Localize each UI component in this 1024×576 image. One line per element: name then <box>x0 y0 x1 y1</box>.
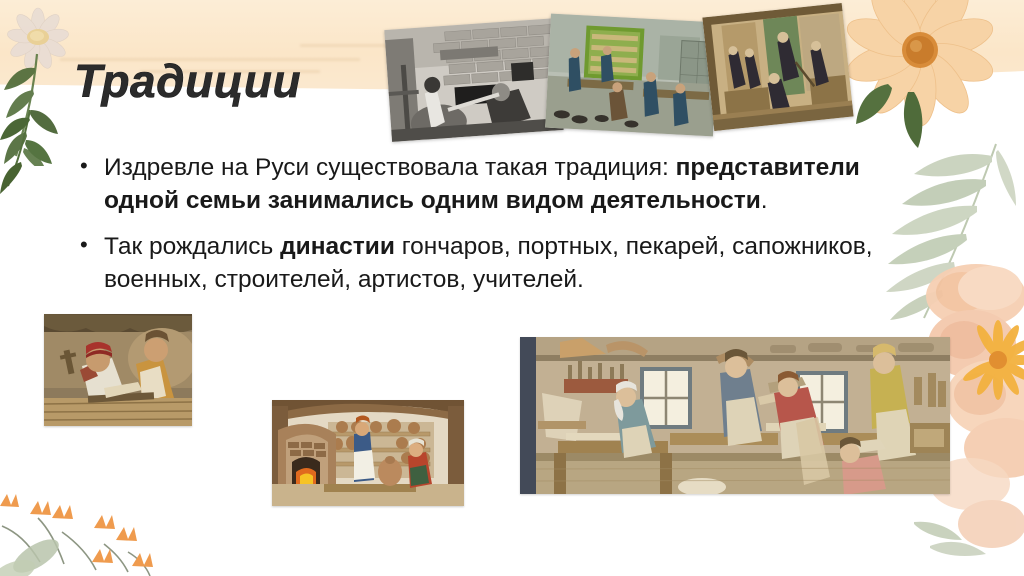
slide-root: Традиции Издревле на Руси существовала т… <box>0 0 1024 576</box>
orange-tulips-bottom-left <box>0 466 220 576</box>
photo-pottery-kiln <box>272 400 464 506</box>
photo-joinery-workshop <box>520 337 950 494</box>
photo-tailor-shop <box>702 3 853 131</box>
photo-carpenters-pair <box>44 314 192 426</box>
bullet-2-normal-a: Так рождались <box>104 233 280 260</box>
bullet-item-1: Издревле на Руси существовала такая трад… <box>76 152 936 217</box>
page-title: Традиции <box>74 54 301 108</box>
bullet-2-bold: династии <box>280 233 395 260</box>
yellow-bud-bottom-right <box>942 316 1024 406</box>
photo-shoemaker-workshop <box>545 14 719 137</box>
photo-bakers-brick-oven <box>384 18 563 142</box>
bullet-item-2: Так рождались династии гончаров, портных… <box>76 231 936 296</box>
body-text-block: Издревле на Руси существовала такая трад… <box>76 152 936 310</box>
bullet-1-normal-b: . <box>761 187 768 214</box>
bullet-1-normal-a: Издревле на Руси существовала такая трад… <box>104 154 676 181</box>
